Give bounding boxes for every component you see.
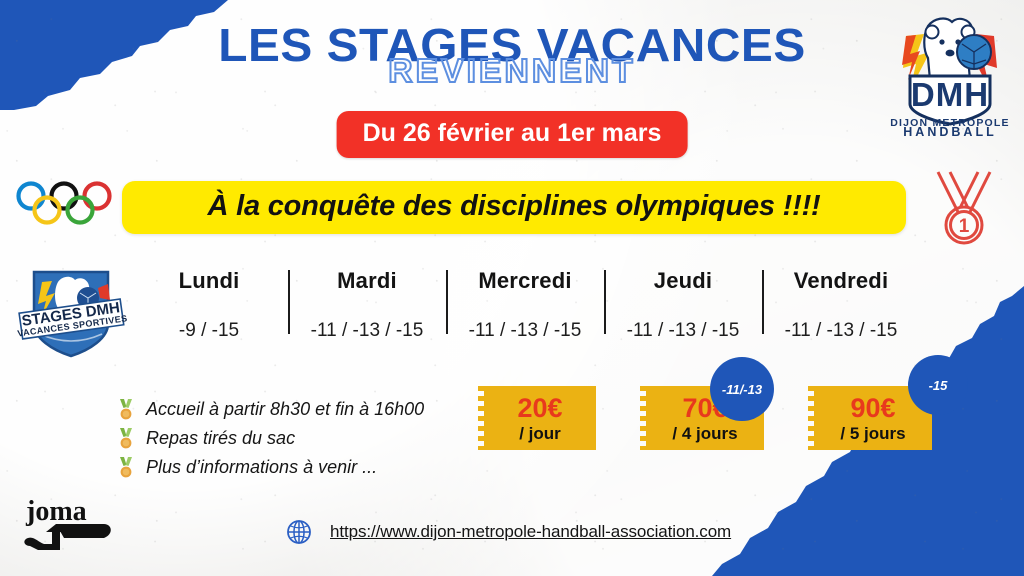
stages-dmh-badge: STAGES DMH VACANCES SPORTIVES xyxy=(12,264,130,362)
schedule-column-vendredi: Vendredi -11 / -13 / -15 xyxy=(762,268,920,342)
website-url[interactable]: https://www.dijon-metropole-handball-ass… xyxy=(330,522,731,542)
list-item: Accueil à partir 8h30 et fin à 16h00 xyxy=(118,396,424,423)
medal-bullet-icon xyxy=(118,427,134,451)
medal-rank-icon: 1 xyxy=(918,168,1010,248)
day-age-groups: -11 / -13 / -15 xyxy=(292,320,442,342)
list-item: Repas tirés du sac xyxy=(118,425,424,452)
day-age-groups: -11 / -13 / -15 xyxy=(766,320,916,342)
info-text: Accueil à partir 8h30 et fin à 16h00 xyxy=(146,399,424,420)
slogan-banner: À la conquête des disciplines olympiques… xyxy=(122,181,906,234)
day-name: Lundi xyxy=(134,268,284,294)
footer-url-row[interactable]: https://www.dijon-metropole-handball-ass… xyxy=(286,519,731,545)
list-item: Plus d’informations à venir ... xyxy=(118,454,424,481)
day-name: Mardi xyxy=(292,268,442,294)
info-list: Accueil à partir 8h30 et fin à 16h00 Rep… xyxy=(118,396,424,483)
slogan-text: À la conquête des disciplines olympiques… xyxy=(208,190,821,222)
ticket-price: 20€ xyxy=(482,394,598,422)
price-ticket-1-day: 20€ / jour xyxy=(478,386,602,450)
info-text: Repas tirés du sac xyxy=(146,428,295,449)
ticket-unit: / 4 jours xyxy=(644,424,766,444)
info-text: Plus d’informations à venir ... xyxy=(146,457,377,478)
ticket-unit: / jour xyxy=(482,424,598,444)
day-age-groups: -9 / -15 xyxy=(134,320,284,342)
date-banner: Du 26 février au 1er mars xyxy=(337,111,688,158)
olympic-rings-icon xyxy=(14,178,114,230)
dmh-subtitle-line2: HANDBALL xyxy=(903,125,996,136)
page-subtitle: REVIENNENT xyxy=(0,54,1024,87)
day-name: Vendredi xyxy=(766,268,916,294)
day-name: Jeudi xyxy=(608,268,758,294)
age-bubble-11-13: -11/-13 xyxy=(710,357,774,421)
day-name: Mercredi xyxy=(450,268,600,294)
ticket-unit: / 5 jours xyxy=(812,424,934,444)
schedule-column-lundi: Lundi -9 / -15 xyxy=(130,268,288,342)
medal-rank-text: 1 xyxy=(959,216,970,237)
joma-logo: joma xyxy=(16,494,126,558)
day-age-groups: -11 / -13 / -15 xyxy=(608,320,758,342)
schedule-column-jeudi: Jeudi -11 / -13 / -15 xyxy=(604,268,762,342)
title-block: LES STAGES VACANCES REVIENNENT xyxy=(0,22,1024,87)
day-age-groups: -11 / -13 / -15 xyxy=(450,320,600,342)
schedule-column-mardi: Mardi -11 / -13 / -15 xyxy=(288,268,446,342)
joma-wordmark: joma xyxy=(25,496,87,527)
age-bubble-15: -15 xyxy=(908,355,968,415)
poster-canvas: LES STAGES VACANCES REVIENNENT Du 26 fév… xyxy=(0,0,1024,576)
medal-bullet-icon xyxy=(118,398,134,422)
schedule-column-mercredi: Mercredi -11 / -13 / -15 xyxy=(446,268,604,342)
schedule-table: Lundi -9 / -15 Mardi -11 / -13 / -15 Mer… xyxy=(130,268,920,342)
medal-bullet-icon xyxy=(118,456,134,480)
globe-icon xyxy=(286,519,312,545)
